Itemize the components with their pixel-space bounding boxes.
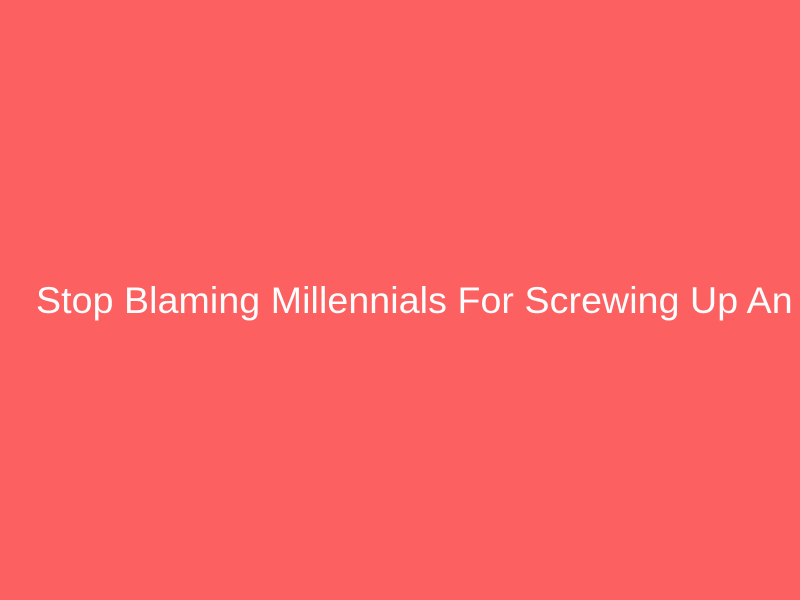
article-preview-card[interactable]: Stop Blaming Millennials For Screwing Up…: [0, 0, 800, 600]
headline-text: Stop Blaming Millennials For Screwing Up…: [0, 278, 800, 322]
